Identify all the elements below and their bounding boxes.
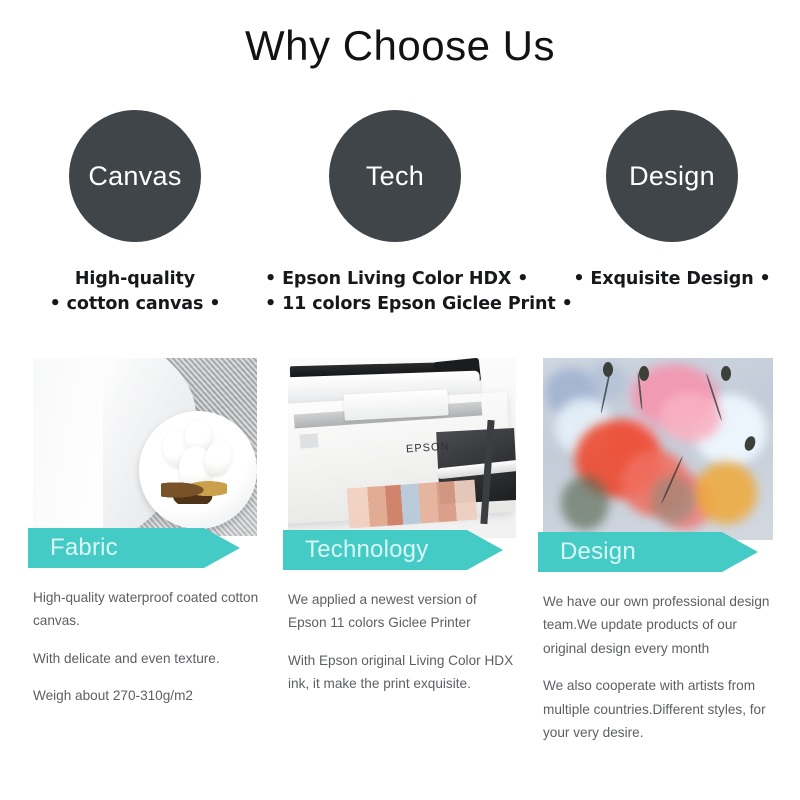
card-technology[interactable]: EPSON Technology We applied a newest ver…	[283, 358, 538, 696]
body-paragraph: We applied a newest version of Epson 11 …	[288, 588, 516, 635]
badge-caption-design: • Exquisite Design •	[542, 267, 800, 292]
body-paragraph: High-quality waterproof coated cotton ca…	[33, 586, 261, 633]
cotton-canvas-roll-photo	[33, 358, 257, 536]
circle-label-canvas: Canvas	[88, 163, 181, 190]
circle-tech[interactable]: Tech	[329, 110, 461, 242]
banner-technology[interactable]: Technology	[283, 530, 503, 570]
body-paragraph: With delicate and even texture.	[33, 647, 261, 670]
circle-canvas[interactable]: Canvas	[69, 110, 201, 242]
caption-line: • cotton canvas •	[5, 292, 265, 317]
page-title: Why Choose Us	[0, 22, 800, 70]
caption-line: • 11 colors Epson Giclee Print •	[265, 292, 525, 317]
circle-label-tech: Tech	[366, 163, 424, 190]
badge-row: Canvas High-quality • cotton canvas • Te…	[0, 110, 800, 325]
body-paragraph: Weigh about 270-310g/m2	[33, 684, 261, 707]
badge-design[interactable]: Design • Exquisite Design •	[542, 110, 800, 292]
body-copy-fabric: High-quality waterproof coated cotton ca…	[28, 586, 261, 708]
badge-canvas[interactable]: Canvas High-quality • cotton canvas •	[5, 110, 265, 318]
body-copy-technology: We applied a newest version of Epson 11 …	[283, 588, 516, 696]
caption-line: High-quality	[5, 267, 265, 292]
epson-printer-photo: EPSON	[288, 358, 516, 538]
body-copy-design: We have our own professional design team…	[538, 590, 781, 744]
card-design[interactable]: Design We have our own professional desi…	[538, 358, 793, 744]
card-fabric[interactable]: Fabric High-quality waterproof coated co…	[28, 358, 283, 708]
badge-caption-canvas: High-quality • cotton canvas •	[5, 267, 265, 318]
feature-cards: Fabric High-quality waterproof coated co…	[0, 358, 800, 800]
circle-label-design: Design	[629, 163, 715, 190]
banner-label-technology: Technology	[283, 538, 428, 562]
badge-tech[interactable]: Tech • Epson Living Color HDX • • 11 col…	[265, 110, 525, 318]
banner-label-fabric: Fabric	[28, 536, 118, 560]
watercolor-floral-painting-photo	[543, 358, 773, 540]
caption-line: • Epson Living Color HDX •	[265, 267, 525, 292]
body-paragraph: We also cooperate with artists from mult…	[543, 674, 781, 744]
banner-label-design: Design	[538, 540, 636, 564]
badge-caption-tech: • Epson Living Color HDX • • 11 colors E…	[265, 267, 525, 318]
body-paragraph: We have our own professional design team…	[543, 590, 781, 660]
circle-design[interactable]: Design	[606, 110, 738, 242]
body-paragraph: With Epson original Living Color HDX ink…	[288, 649, 516, 696]
banner-fabric[interactable]: Fabric	[28, 528, 240, 568]
banner-design[interactable]: Design	[538, 532, 758, 572]
caption-line: • Exquisite Design •	[542, 267, 800, 292]
